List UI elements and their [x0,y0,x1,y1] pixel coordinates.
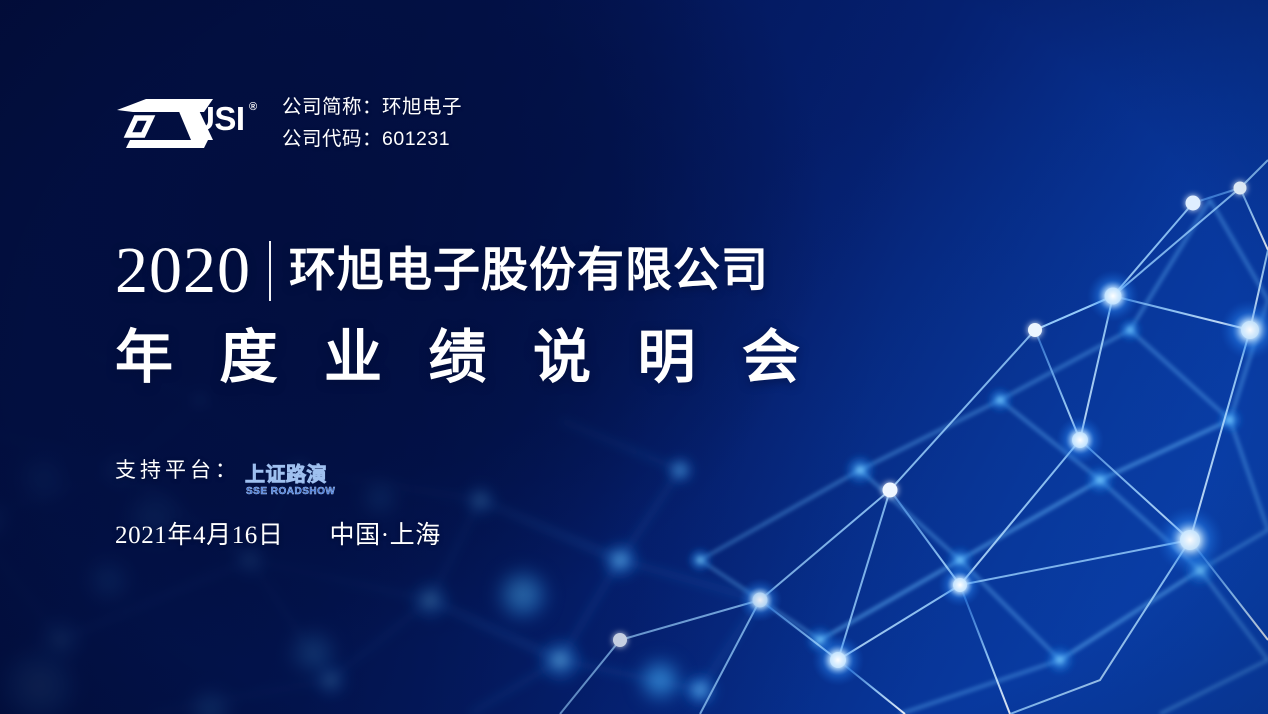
event-location: 中国·上海 [330,515,441,551]
company-code: 公司代码：601231 [282,125,462,153]
event-date: 2021年4月16日 [115,515,284,551]
company-info-block: 公司简称：环旭电子 公司代码：601231 [282,93,462,154]
svg-text:®: ® [249,101,257,113]
poster-content: USI ® 公司简称：环旭电子 公司代码：601231 2020 环旭电子股份有… [0,0,1268,714]
support-platform-row: 支持平台： 上证路演 SSE ROADSHOW [115,458,441,499]
company-abbreviation: 公司简称：环旭电子 [282,93,462,121]
main-title-block: 2020 环旭电子股份有限公司 年 度 业 绩 说 明 会 [115,238,816,391]
presentation-poster: USI ® 公司简称：环旭电子 公司代码：601231 2020 环旭电子股份有… [0,0,1268,714]
svg-text:USI: USI [191,100,245,137]
sse-logo-en: SSE ROADSHOW [246,486,335,497]
support-platform-label: 支持平台： [115,458,240,484]
poster-footer: 支持平台： 上证路演 SSE ROADSHOW 2021年4月16日 中国·上海 [115,458,441,551]
event-datetime-row: 2021年4月16日 中国·上海 [115,515,441,551]
sse-logo-cn: 上证路演 [245,462,327,486]
title-divider [269,241,271,301]
report-year: 2020 [115,238,269,304]
poster-header: USI ® 公司简称：环旭电子 公司代码：601231 [115,92,462,154]
event-title: 年 度 业 绩 说 明 会 [115,326,816,391]
company-full-name: 环旭电子股份有限公司 [289,248,769,295]
sse-roadshow-logo: 上证路演 SSE ROADSHOW [244,459,374,499]
title-line-one: 2020 环旭电子股份有限公司 [115,238,816,304]
usi-logo-icon: USI ® [115,92,260,154]
